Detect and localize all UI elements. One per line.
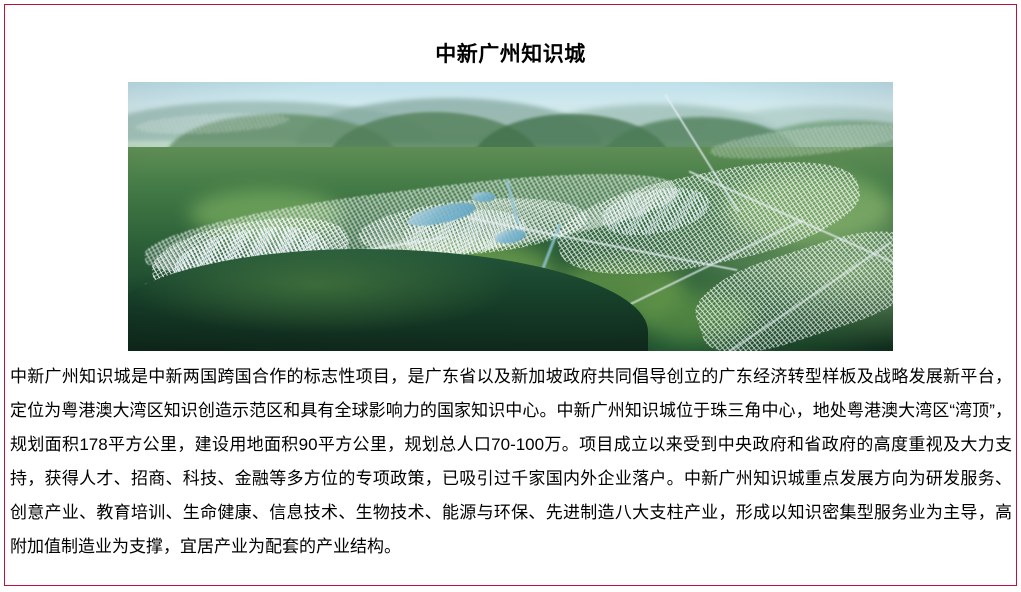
page-title: 中新广州知识城: [0, 42, 1021, 68]
figure-canvas: [128, 82, 893, 351]
image-vignette: [128, 82, 893, 351]
document-page: 中新广州知识城: [0, 0, 1021, 592]
aerial-rendering-image: [128, 82, 893, 351]
document-content: 中新广州知识城: [0, 0, 1021, 592]
body-paragraph: 中新广州知识城是中新两国跨国合作的标志性项目，是广东省以及新加坡政府共同倡导创立…: [10, 360, 1012, 564]
